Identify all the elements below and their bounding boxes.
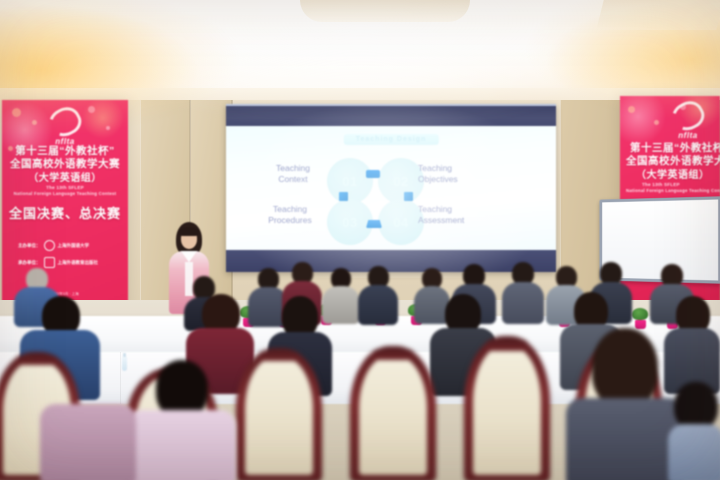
bubble [106, 126, 110, 130]
label-line2: Procedures [256, 215, 324, 226]
torso [502, 282, 544, 324]
bubble [88, 106, 95, 113]
slide-title: Teaching Design [344, 134, 439, 145]
banner-right-en-line1: The 13th SFLEP [620, 182, 720, 187]
label-line1: Teaching [256, 204, 324, 215]
plant-leaves [632, 308, 648, 320]
banner-right-en-line2: National Foreign Language Teaching Cont [620, 188, 720, 193]
banner-headline: 全国决赛、总决赛 [2, 203, 128, 222]
label-line2: Assessment [418, 215, 502, 226]
torso [126, 410, 236, 480]
audience-member-foreground [566, 328, 684, 480]
torso [566, 398, 684, 480]
bubble [12, 108, 21, 117]
chair-crest [486, 337, 527, 350]
connector-top-icon [366, 170, 380, 178]
banner-logo: nflta [49, 108, 81, 146]
organizer-name: 上海外国语大学 [58, 243, 90, 249]
connector-left-icon [339, 192, 348, 201]
chair [236, 348, 322, 480]
chair-cushion [473, 346, 540, 474]
slide-circle-01: 01 [327, 158, 373, 204]
banner-title-line3: （大学英语组） [2, 169, 128, 184]
slide-label-teaching-procedures: Teaching Procedures [256, 204, 324, 226]
audience-member-foreground [40, 374, 136, 480]
bubble [628, 106, 635, 113]
torso [358, 285, 398, 325]
slide-label-teaching-context: Teaching Context [262, 163, 324, 185]
connector-bottom-icon [366, 220, 382, 228]
chair-crest [372, 347, 413, 359]
torso [668, 424, 720, 480]
head [592, 328, 658, 408]
audience-member-foreground [126, 360, 236, 480]
label-line2: Objectives [418, 174, 498, 185]
chair [464, 336, 550, 480]
label-line2: Context [262, 174, 324, 185]
chair-cushion [245, 357, 312, 475]
presenter-fringe [179, 227, 199, 236]
torso [40, 404, 136, 480]
slide-header-band [226, 104, 556, 128]
conference-hall-photo: nflta 第十三届“外教社杯” 全国高校外语教学大赛 （大学英语组） The … [0, 0, 720, 480]
banner-en-line2: National Foreign Language Teaching Conte… [2, 191, 128, 196]
host-name: 上海外语教育出版社 [58, 260, 99, 266]
connector-right-icon [404, 192, 413, 201]
label-line1: Teaching [418, 204, 502, 215]
label-line1: Teaching [418, 163, 498, 174]
chair [350, 346, 436, 480]
projection-screen: Teaching Design 01 02 03 04 Teaching Con… [226, 104, 556, 272]
ceiling-seam [300, 0, 470, 22]
ceiling-seam-right [596, 0, 720, 30]
slide-label-teaching-objectives: Teaching Objectives [418, 163, 498, 185]
presentation-slide: Teaching Design 01 02 03 04 Teaching Con… [226, 126, 556, 250]
audience-member [502, 262, 544, 324]
bubble [32, 120, 37, 125]
slide-label-teaching-assessment: Teaching Assessment [418, 204, 502, 226]
chair-cushion [359, 356, 426, 476]
chair-crest [258, 349, 299, 361]
audience-member-foreground [668, 382, 720, 480]
banner-en-line1: The 13th SFLEP [2, 185, 128, 190]
banner-logo-mark-right: nflta [672, 131, 704, 140]
press-logo-icon [44, 257, 55, 268]
banner-organizer-row: 主办单位： 上海外国语大学 [18, 240, 89, 251]
ceiling [0, 0, 720, 108]
banner-logo-right: nflta [672, 102, 704, 140]
university-logo-icon [44, 240, 55, 251]
slide-circle-03: 03 [327, 199, 373, 245]
banner-host-row: 承办单位： 上海外语教育出版社 [18, 257, 98, 268]
swirl-icon [44, 102, 85, 142]
potted-plant [632, 308, 648, 329]
host-label: 承办单位： [18, 260, 41, 266]
audience-member [358, 266, 398, 324]
organizer-label: 主办单位： [18, 243, 41, 249]
label-line1: Teaching [262, 163, 324, 174]
chair-crest [16, 353, 57, 365]
swirl-icon [667, 96, 708, 136]
banner-right-title-line3: （大学英语组） [620, 166, 720, 181]
head [674, 382, 718, 430]
bubble [654, 120, 659, 125]
